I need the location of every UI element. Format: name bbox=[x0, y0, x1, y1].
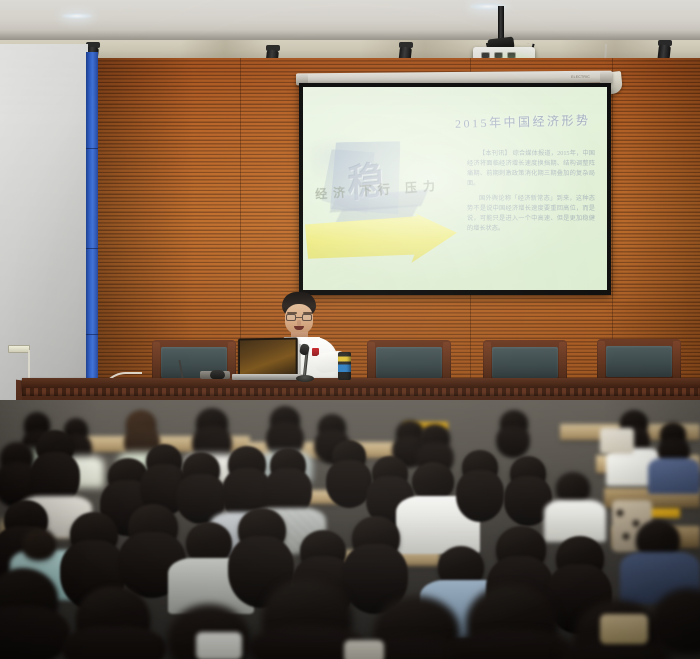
microphone-base bbox=[296, 375, 314, 382]
projection-screen-frame: 稳 经济 下行 压力 2015年中国经济形势 【本刊讯】 综合媒体报道，2015… bbox=[299, 83, 611, 295]
handbag bbox=[600, 428, 634, 454]
slide-paragraph: 国外舆论称「经济新常态」到来，这种态势不是说中国经济增长速度要重回高位，而是说，… bbox=[467, 194, 595, 234]
student-audience bbox=[0, 400, 700, 659]
slide-paragraph: 【本刊讯】 综合媒体报道，2015年，中国经济将面临经济增长速度换挡期、结构调整… bbox=[467, 149, 595, 189]
projection-screen-surface: 稳 经济 下行 压力 2015年中国经济形势 【本刊讯】 综合媒体报道，2015… bbox=[303, 87, 607, 290]
laptop-base bbox=[232, 374, 304, 380]
audience-hair bbox=[0, 606, 70, 659]
screen-brand-label: ELECTRIC bbox=[571, 75, 590, 79]
stage-chair bbox=[597, 339, 681, 383]
audience-head bbox=[412, 462, 454, 500]
recessed-ceiling-downlight bbox=[62, 13, 92, 19]
audience-hair bbox=[496, 426, 530, 458]
lecture-hall-photo: ELECTRIC 稳 经济 下行 压力 2015年中国经济形势 【本刊讯】 综合… bbox=[0, 0, 700, 659]
audience-hair bbox=[62, 626, 166, 659]
computer-mouse bbox=[210, 370, 225, 379]
thermos-cup bbox=[338, 352, 351, 380]
eyeglasses-icon bbox=[286, 314, 312, 321]
wall-cornice bbox=[0, 40, 700, 60]
wall-outlet bbox=[8, 345, 30, 353]
slide-body-text: 【本刊讯】 综合媒体报道，2015年，中国经济将面临经济增长速度换挡期、结构调整… bbox=[467, 149, 595, 239]
presenter-laptop bbox=[238, 337, 298, 378]
slide-yellow-arrow bbox=[305, 213, 457, 265]
slide-title: 2015年中国经济形势 bbox=[455, 111, 591, 132]
audience-hair bbox=[456, 470, 504, 522]
audience-hair bbox=[452, 630, 572, 659]
slide-graphic: 稳 bbox=[309, 135, 469, 270]
audience-head bbox=[22, 528, 56, 560]
